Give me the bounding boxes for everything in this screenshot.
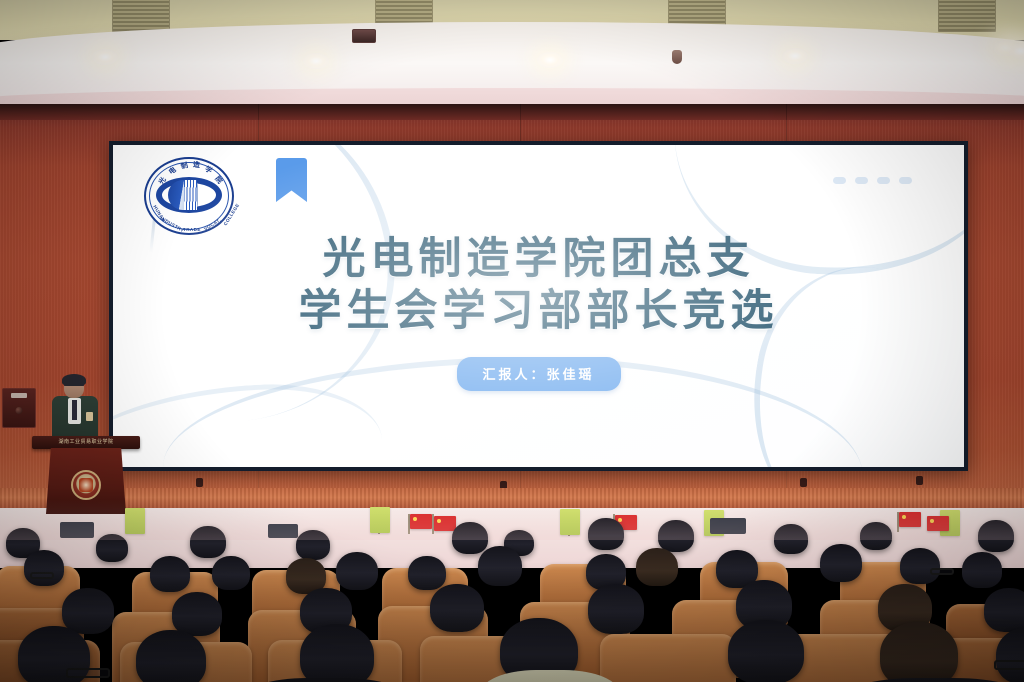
ceiling-speaker-icon (672, 50, 682, 64)
slide-decor-swoosh (113, 378, 387, 467)
audience-head (900, 548, 940, 584)
podium-lectern-top: 湖南工业贸易职业学院 (32, 436, 140, 449)
ceiling-vent (112, 0, 170, 32)
wall-top-shadow-band (0, 104, 1024, 120)
ceiling-downlight (537, 52, 563, 68)
wall-panel-knob-icon (16, 407, 23, 414)
ceiling-downlight (782, 48, 808, 64)
presenter-badge: 汇报人：张佳瑶 (456, 357, 620, 391)
presentation-slide: 光 电 制 造 学 院 HUNAN INDUSTRY TRADE VOCAT. … (113, 145, 964, 467)
eyeglasses-icon (930, 568, 954, 575)
audience-head (296, 530, 330, 560)
college-emblem-logo: 光 电 制 造 学 院 HUNAN INDUSTRY TRADE VOCAT. … (140, 155, 237, 239)
ceiling-vent (938, 0, 996, 32)
audience-head (728, 620, 804, 682)
eyeglasses-icon (994, 660, 1024, 670)
emblem-cn-char: 电 (167, 165, 179, 177)
emblem-cn-char: 造 (192, 160, 200, 171)
national-flag-icon (434, 516, 456, 531)
decor-dot (899, 177, 912, 184)
audience-head (24, 550, 64, 586)
emblem-en-frag: TRADE (183, 227, 201, 232)
audience-head (96, 534, 128, 562)
slide-title-line-1: 光电制造学院团总支 (113, 233, 964, 285)
ceiling-downlight (303, 53, 329, 69)
eyeglasses-icon (66, 668, 110, 678)
wall-fixture (196, 478, 203, 487)
audience-head (880, 622, 958, 682)
audience-head (336, 552, 378, 590)
audience-head (136, 630, 206, 682)
wall-fixture (800, 478, 807, 487)
audience-head (636, 548, 678, 586)
laptop (710, 518, 746, 534)
slide-decor-dots (833, 177, 912, 184)
audience-head (300, 624, 374, 682)
audience-head (860, 522, 892, 550)
speaker-name-badge (86, 412, 93, 421)
projection-screen[interactable]: 光 电 制 造 学 院 HUNAN INDUSTRY TRADE VOCAT. … (109, 141, 968, 471)
emblem-en-frag: VOCAT. (203, 217, 222, 231)
podium-and-speaker: 湖南工业贸易职业学院 (26, 372, 146, 517)
audience-head (172, 592, 222, 636)
speaker-hair (62, 374, 86, 386)
decor-dot (833, 177, 846, 184)
audience-area (0, 500, 1024, 682)
wall-panel-label (11, 393, 27, 398)
eyeglasses-icon (30, 572, 54, 579)
audience-head (658, 520, 694, 552)
slide-title-line-2: 学生会学习部部长竞选 (113, 285, 964, 337)
auditorium-scene: 光 电 制 造 学 院 HUNAN INDUSTRY TRADE VOCAT. … (0, 0, 1024, 682)
slide-title: 光电制造学院团总支 学生会学习部部长竞选 (113, 233, 964, 337)
audience-head (190, 526, 226, 558)
emblem-cn-char: 制 (180, 160, 189, 172)
audience-head (774, 524, 808, 554)
auditorium-seat (600, 634, 736, 682)
audience-head (984, 588, 1024, 632)
laptop (268, 524, 298, 538)
audience-head (478, 546, 522, 586)
audience-head (962, 552, 1002, 588)
audience-head (150, 556, 190, 592)
audience-head (588, 518, 624, 550)
decor-dot (877, 177, 890, 184)
audience-head (452, 522, 488, 554)
national-flag-icon (927, 516, 949, 531)
audience-head (212, 556, 250, 590)
national-flag-icon (899, 512, 921, 527)
emblem-chinese-arc: 光 电 制 造 学 院 (150, 159, 228, 193)
emblem-cn-char: 院 (212, 174, 224, 186)
ceiling-downlight (92, 49, 118, 65)
green-sign (370, 507, 390, 533)
ceiling-projector-mount (352, 29, 376, 43)
speaker-tie (72, 400, 77, 420)
decor-dot (855, 177, 868, 184)
audience-head (408, 556, 446, 590)
podium-nameplate: 湖南工业贸易职业学院 (58, 438, 113, 445)
emblem-cn-char: 学 (203, 164, 214, 176)
green-sign (125, 508, 145, 534)
audience-head (430, 584, 484, 632)
emblem-english-arc: HUNAN INDUSTRY TRADE VOCAT. COLLEGE (146, 209, 232, 233)
audience-head (588, 584, 644, 634)
emblem-cn-char: 光 (156, 175, 168, 186)
laptop (60, 522, 94, 538)
wall-fixture (916, 476, 923, 485)
green-sign (560, 509, 580, 535)
podium-emblem-icon (71, 470, 101, 500)
audience-head (978, 520, 1014, 552)
audience-head (62, 588, 114, 634)
audience-head (820, 544, 862, 582)
emblem-en-frag: INDUSTRY (160, 216, 185, 234)
national-flag-icon (410, 514, 432, 529)
bookmark-icon (276, 158, 307, 202)
